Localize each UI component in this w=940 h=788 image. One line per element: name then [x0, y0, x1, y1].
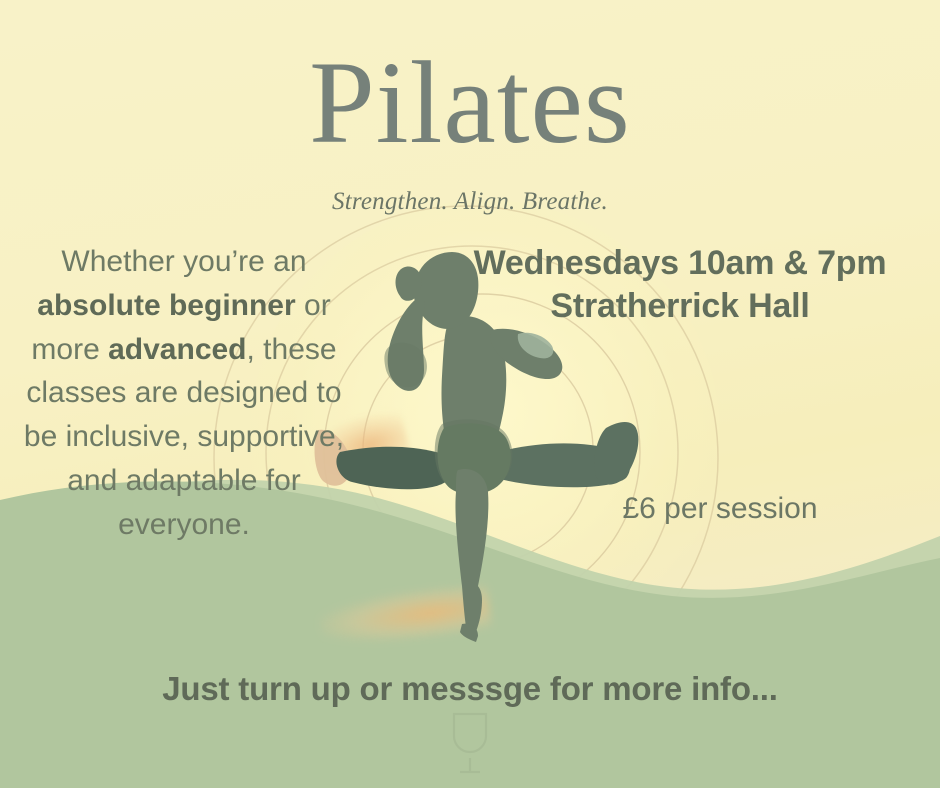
page-title: Pilates	[0, 44, 940, 162]
schedule-block: Wednesdays 10am & 7pm Stratherrick Hall	[430, 242, 930, 328]
blurb-bold-beginner: absolute beginner	[37, 289, 295, 322]
watermark-icon	[438, 700, 502, 774]
blurb-bold-advanced: advanced	[108, 333, 246, 366]
price-text: £6 per session	[520, 492, 920, 526]
footer-call-to-action: Just turn up or messsge for more info...	[0, 670, 940, 708]
schedule-time: Wednesdays 10am & 7pm	[430, 242, 930, 285]
schedule-venue: Stratherrick Hall	[430, 285, 930, 328]
class-description: Whether you’re an absolute beginner or m…	[16, 240, 352, 547]
pilates-poster: Pilates Strengthen. Align. Breathe. Whet…	[0, 0, 940, 788]
blurb-line-1: Whether you’re an	[61, 245, 306, 278]
tagline: Strengthen. Align. Breathe.	[0, 188, 940, 216]
